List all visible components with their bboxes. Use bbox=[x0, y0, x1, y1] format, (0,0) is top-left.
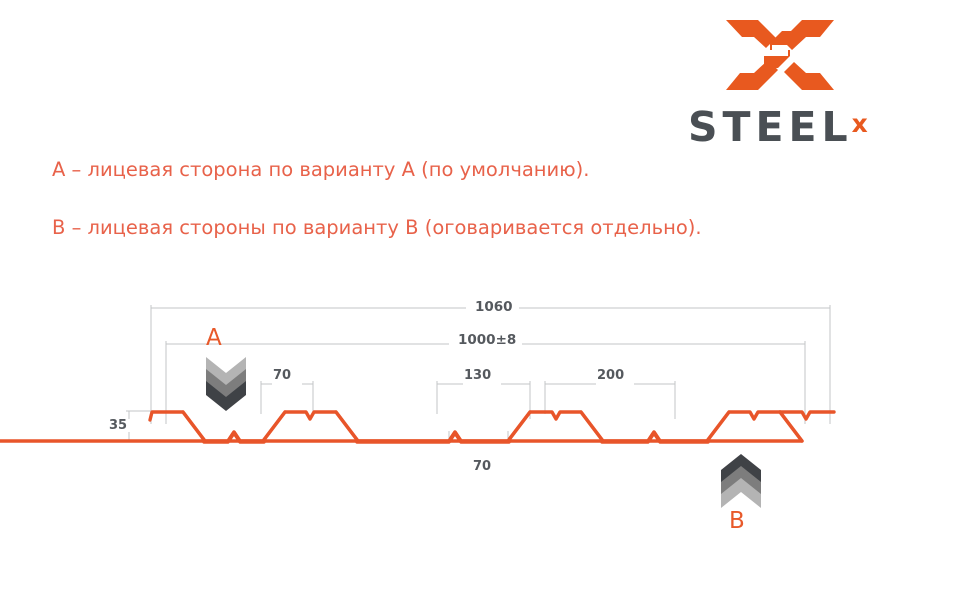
dimension-label-height-35: 35 bbox=[103, 419, 133, 432]
dimension-label-200: 200 bbox=[591, 369, 630, 382]
sheet-profile-fall-3 bbox=[581, 412, 603, 441]
chevron-up-icon bbox=[719, 452, 763, 510]
dimension-label-1060: 1060 bbox=[469, 301, 519, 315]
sheet-profile-fall-4 bbox=[780, 412, 802, 441]
sheet-profile-valley-left bbox=[183, 412, 205, 441]
dimension-label-valley-70: 70 bbox=[467, 460, 497, 473]
dimension-label-130: 130 bbox=[458, 369, 497, 382]
marker-letter-a: А bbox=[206, 327, 222, 350]
sheet-profile-right-tail bbox=[780, 412, 834, 419]
profile-mask-2 bbox=[0, 444, 970, 504]
sheet-profile-rise-2 bbox=[508, 412, 530, 441]
marker-letter-b: В bbox=[729, 510, 745, 533]
dimension-label-1000: 1000±8 bbox=[452, 334, 522, 348]
sheet-profile-rise-1 bbox=[263, 412, 285, 441]
chevron-down-icon bbox=[204, 355, 248, 413]
sheet-profile-rise-3 bbox=[707, 412, 729, 441]
sheet-profile-fall-2 bbox=[336, 412, 358, 441]
dimension-label-crest-70: 70 bbox=[267, 369, 297, 382]
